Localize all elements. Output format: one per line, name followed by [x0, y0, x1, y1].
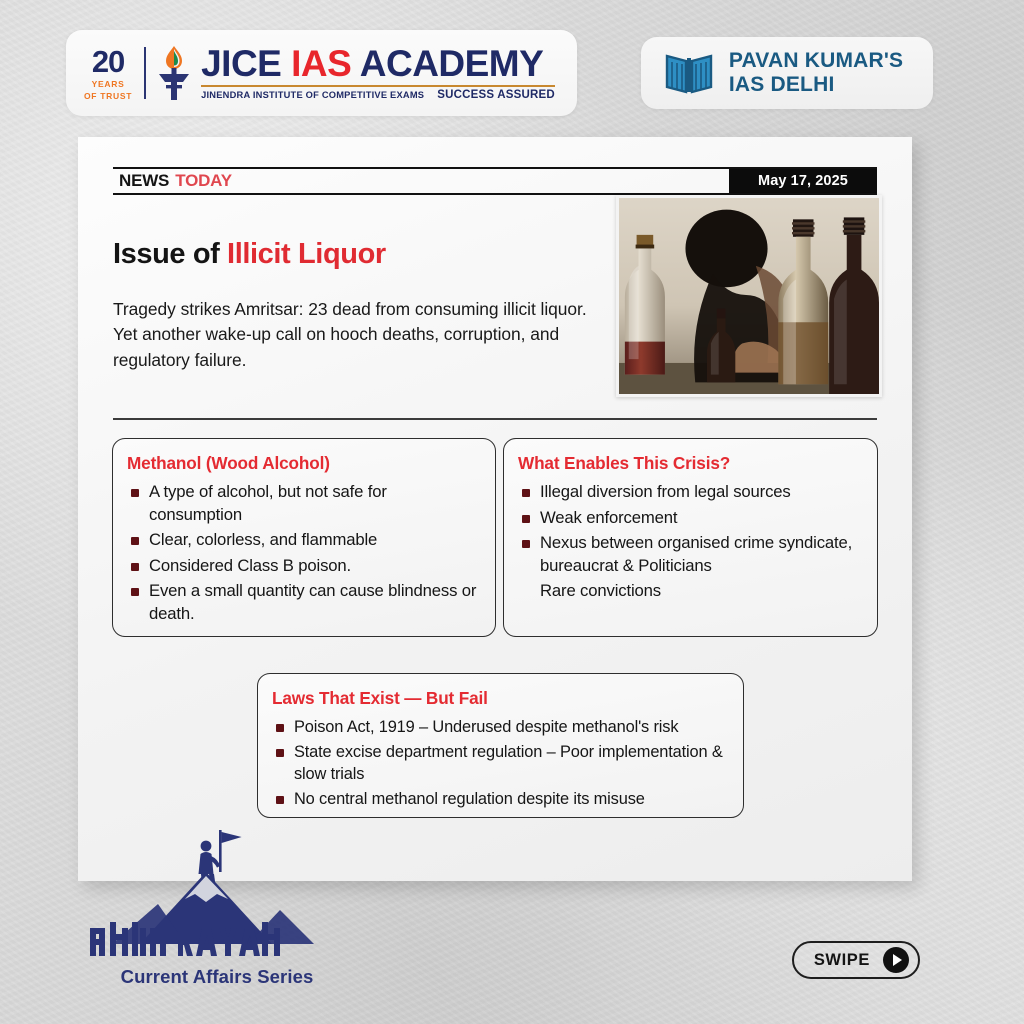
- jice-title-part1: JICE: [201, 43, 291, 84]
- jice-success-assured: SUCCESS ASSURED: [437, 89, 555, 101]
- years-number: 20: [92, 46, 124, 77]
- partner-line-2: IAS DELHI: [729, 73, 903, 97]
- card-methanol-bullets: A type of alcohol, but not safe for cons…: [127, 481, 479, 625]
- card-methanol: Methanol (Wood Alcohol) A type of alcoho…: [112, 438, 496, 637]
- list-item: Clear, colorless, and flammable: [127, 529, 479, 552]
- brand-divider: [144, 47, 146, 99]
- jice-wordmark: JICE IAS ACADEMY JINENDRA INSTITUTE OF C…: [201, 45, 555, 100]
- list-item-continuation: Rare convictions: [518, 580, 861, 603]
- abhiprayah-logo: Current Affairs Series: [82, 824, 352, 1006]
- jice-title: JICE IAS ACADEMY: [201, 45, 555, 83]
- jice-title-part3: ACADEMY: [351, 43, 543, 84]
- jice-brand-logo: 20 YEARS OF TRUST JICE IAS ACADEMY: [66, 30, 577, 116]
- list-item: Illegal diversion from legal sources: [518, 481, 861, 504]
- header: 20 YEARS OF TRUST JICE IAS ACADEMY: [0, 30, 1024, 116]
- intro-paragraph: Tragedy strikes Amritsar: 23 dead from c…: [113, 297, 605, 373]
- card-enables-bullets: Illegal diversion from legal sources Wea…: [518, 481, 861, 603]
- play-arrow-icon: [883, 947, 909, 973]
- list-item: No central methanol regulation despite i…: [272, 788, 727, 810]
- illicit-liquor-photo: [616, 195, 882, 397]
- swipe-button[interactable]: SWIPE: [792, 941, 920, 979]
- news-today-label: NEWS TODAY: [113, 169, 729, 193]
- headline-plain: Issue of: [113, 238, 227, 270]
- news-sheet: NEWS TODAY May 17, 2025 Issue of Illicit…: [78, 137, 912, 881]
- news-today-bar: NEWS TODAY May 17, 2025: [113, 167, 877, 195]
- jice-tagline: JINENDRA INSTITUTE OF COMPETITIVE EXAMS: [201, 90, 424, 100]
- today-word: TODAY: [175, 171, 232, 191]
- jice-title-part2: IAS: [291, 43, 351, 84]
- partner-name: PAVAN KUMAR'S IAS DELHI: [729, 49, 903, 96]
- news-date: May 17, 2025: [729, 169, 877, 193]
- card-laws-that-exist: Laws That Exist — But Fail Poison Act, 1…: [257, 673, 744, 818]
- headline-accent: Illicit Liquor: [227, 238, 386, 270]
- list-item: Considered Class B poison.: [127, 555, 479, 578]
- card-laws-title: Laws That Exist — But Fail: [272, 688, 727, 709]
- section-divider: [113, 418, 877, 420]
- news-word: NEWS: [119, 171, 169, 191]
- card-laws-bullets: Poison Act, 1919 – Underused despite met…: [272, 716, 727, 811]
- trust-label: OF TRUST: [84, 92, 132, 101]
- list-item: Weak enforcement: [518, 507, 861, 530]
- card-what-enables-this-crisis: What Enables This Crisis? Illegal divers…: [503, 438, 878, 637]
- open-book-icon: [665, 52, 713, 94]
- list-item: State excise department regulation – Poo…: [272, 741, 727, 785]
- list-item: A type of alcohol, but not safe for cons…: [127, 481, 479, 526]
- jice-underline: [201, 85, 555, 87]
- swipe-label: SWIPE: [814, 951, 870, 970]
- card-methanol-title: Methanol (Wood Alcohol): [127, 453, 479, 474]
- abhiprayah-tagline: Current Affairs Series: [82, 966, 352, 988]
- list-item: Even a small quantity can cause blindnes…: [127, 580, 479, 625]
- partner-line-1: PAVAN KUMAR'S: [729, 49, 903, 73]
- card-enables-title: What Enables This Crisis?: [518, 453, 861, 474]
- years-label: YEARS: [92, 80, 125, 89]
- partner-logo: PAVAN KUMAR'S IAS DELHI: [641, 37, 933, 109]
- years-of-trust-badge: 20 YEARS OF TRUST: [84, 46, 142, 100]
- poster-canvas: 20 YEARS OF TRUST JICE IAS ACADEMY: [0, 0, 1024, 1024]
- list-item: Poison Act, 1919 – Underused despite met…: [272, 716, 727, 738]
- mountain-flag-icon: [82, 824, 352, 964]
- list-item: Nexus between organised crime syndicate,…: [518, 532, 861, 577]
- torch-icon: [155, 44, 193, 102]
- page-title: Issue of Illicit Liquor: [113, 237, 613, 272]
- jice-subline: JINENDRA INSTITUTE OF COMPETITIVE EXAMS …: [201, 89, 555, 101]
